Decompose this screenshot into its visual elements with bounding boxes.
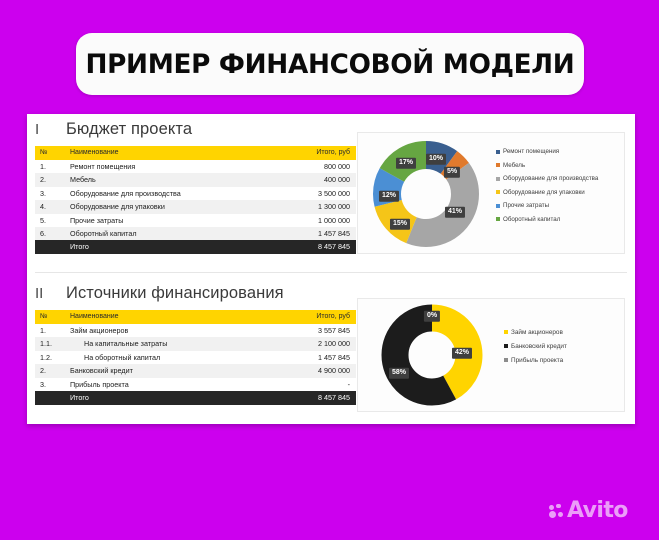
cell-total: 2 100 000 bbox=[275, 337, 356, 350]
table-row: 1. Ремонт помещения 800 000 bbox=[35, 160, 356, 173]
th-name: Наименование bbox=[70, 310, 275, 324]
th-number: № bbox=[35, 310, 70, 324]
th-name: Наименование bbox=[70, 146, 275, 160]
avito-watermark: Avito bbox=[549, 500, 628, 522]
donut-label-oborudovanie-upakovka: 15% bbox=[390, 219, 410, 230]
section-funding: II Источники финансирования № Наименован… bbox=[27, 278, 635, 424]
cell-number: 5. bbox=[35, 214, 70, 227]
funding-donut-chart: 0% 42% 58% bbox=[380, 303, 484, 407]
donut-label-pribyl: 0% bbox=[424, 311, 440, 322]
table-row: 2. Банковский кредит 4 900 000 bbox=[35, 364, 356, 377]
legend-swatch-icon bbox=[496, 163, 500, 167]
donut-label-mebel: 5% bbox=[444, 167, 460, 178]
cell-total: 1 457 845 bbox=[275, 227, 356, 240]
section-title: Источники финансирования bbox=[66, 284, 284, 303]
cell-name: На капитальные затраты bbox=[70, 337, 275, 350]
legend-swatch-icon bbox=[496, 150, 500, 154]
cell-total: 3 500 000 bbox=[275, 187, 356, 200]
table-total-row: Итого 8 457 845 bbox=[35, 240, 356, 254]
legend-label: Ремонт помещения bbox=[503, 148, 559, 155]
legend-swatch-icon bbox=[504, 330, 508, 334]
section-roman-numeral: II bbox=[35, 285, 49, 302]
cell-total: 1 457 845 bbox=[275, 351, 356, 364]
legend-swatch-icon bbox=[496, 204, 500, 208]
cell-number: 6. bbox=[35, 227, 70, 240]
cell-name: Мебель bbox=[70, 173, 275, 186]
legend-item: Прибыль проекта bbox=[504, 353, 630, 367]
cell-number: 2. bbox=[35, 364, 70, 377]
table-row: 3. Прибыль проекта - bbox=[35, 378, 356, 391]
th-number: № bbox=[35, 146, 70, 160]
cell-total: 3 557 845 bbox=[275, 324, 356, 337]
legend-label: Прибыль проекта bbox=[511, 357, 563, 364]
section-budget: I Бюджет проекта № Наименование Итого, р… bbox=[27, 114, 635, 271]
avito-brand-text: Avito bbox=[567, 500, 628, 522]
cell-name: Итого bbox=[70, 391, 275, 405]
cell-total: 8 457 845 bbox=[275, 391, 356, 405]
funding-chart-legend: Займ акционеров Банковский кредит Прибыл… bbox=[504, 325, 630, 367]
cell-total: 8 457 845 bbox=[275, 240, 356, 254]
budget-donut-chart-card: 10% 5% 41% 15% 12% 17% Ремонт помещения … bbox=[357, 132, 625, 254]
table-total-row: Итого 8 457 845 bbox=[35, 391, 356, 405]
cell-total: 800 000 bbox=[275, 160, 356, 173]
legend-label: Оборотный капитал bbox=[503, 216, 560, 223]
legend-label: Мебель bbox=[503, 162, 525, 169]
table-header-row: № Наименование Итого, руб bbox=[35, 310, 356, 324]
donut-label-kredit: 58% bbox=[389, 368, 409, 379]
legend-swatch-icon bbox=[496, 217, 500, 221]
donut-label-zaim: 42% bbox=[452, 348, 472, 359]
th-total: Итого, руб bbox=[275, 146, 356, 160]
section-heading-budget: I Бюджет проекта bbox=[35, 120, 192, 139]
slide-panel: I Бюджет проекта № Наименование Итого, р… bbox=[27, 114, 635, 424]
cell-number: 1. bbox=[35, 324, 70, 337]
legend-label: Займ акционеров bbox=[511, 329, 563, 336]
cell-name: Оборотный капитал bbox=[70, 227, 275, 240]
cell-number bbox=[35, 391, 70, 405]
donut-label-remont: 10% bbox=[426, 154, 446, 165]
table-row: 4. Оборудование для упаковки 1 300 000 bbox=[35, 200, 356, 213]
legend-item: Займ акционеров bbox=[504, 325, 630, 339]
table-row: 1. Займ акционеров 3 557 845 bbox=[35, 324, 356, 337]
cell-total: - bbox=[275, 378, 356, 391]
cell-number: 3. bbox=[35, 378, 70, 391]
table-row: 5. Прочие затраты 1 000 000 bbox=[35, 214, 356, 227]
donut-label-oborotny: 17% bbox=[396, 158, 416, 169]
legend-item: Оборотный капитал bbox=[496, 213, 622, 227]
cell-name: Прибыль проекта bbox=[70, 378, 275, 391]
legend-swatch-icon bbox=[504, 358, 508, 362]
funding-table: № Наименование Итого, руб 1. Займ акцион… bbox=[35, 310, 356, 405]
cell-name: Оборудование для производства bbox=[70, 187, 275, 200]
page-title: ПРИМЕР ФИНАНСОВОЙ МОДЕЛИ bbox=[86, 49, 575, 80]
cell-number: 2. bbox=[35, 173, 70, 186]
legend-item: Прочие затраты bbox=[496, 199, 622, 213]
legend-swatch-icon bbox=[504, 344, 508, 348]
cell-number bbox=[35, 240, 70, 254]
cell-total: 1 000 000 bbox=[275, 214, 356, 227]
table-row: 6. Оборотный капитал 1 457 845 bbox=[35, 227, 356, 240]
cell-name: Прочие затраты bbox=[70, 214, 275, 227]
cell-name: Итого bbox=[70, 240, 275, 254]
donut-label-prochie: 12% bbox=[379, 191, 399, 202]
cell-name: Банковский кредит bbox=[70, 364, 275, 377]
cell-name: Займ акционеров bbox=[70, 324, 275, 337]
cell-total: 400 000 bbox=[275, 173, 356, 186]
budget-chart-legend: Ремонт помещения Мебель Оборудование для… bbox=[496, 145, 622, 226]
budget-table: № Наименование Итого, руб 1. Ремонт поме… bbox=[35, 146, 356, 254]
budget-donut-chart: 10% 5% 41% 15% 12% 17% bbox=[372, 140, 480, 248]
section-divider bbox=[35, 272, 627, 273]
legend-label: Оборудование для упаковки bbox=[503, 189, 585, 196]
cell-number: 1.1. bbox=[35, 337, 70, 350]
cell-number: 1. bbox=[35, 160, 70, 173]
legend-label: Оборудование для производства bbox=[503, 175, 598, 182]
table-row: 2. Мебель 400 000 bbox=[35, 173, 356, 186]
th-total: Итого, руб bbox=[275, 310, 356, 324]
cell-number: 3. bbox=[35, 187, 70, 200]
table-row: 1.1. На капитальные затраты 2 100 000 bbox=[35, 337, 356, 350]
donut-label-oborudovanie-proizvodstvo: 41% bbox=[445, 207, 465, 218]
cell-name: На оборотный капитал bbox=[70, 351, 275, 364]
legend-item: Ремонт помещения bbox=[496, 145, 622, 159]
legend-item: Оборудование для производства bbox=[496, 172, 622, 186]
legend-swatch-icon bbox=[496, 177, 500, 181]
legend-item: Оборудование для упаковки bbox=[496, 186, 622, 200]
funding-donut-chart-card: 0% 42% 58% Займ акционеров Банковский кр… bbox=[357, 298, 625, 412]
avito-dots-icon bbox=[549, 504, 564, 519]
cell-name: Ремонт помещения bbox=[70, 160, 275, 173]
cell-total: 1 300 000 bbox=[275, 200, 356, 213]
section-heading-funding: II Источники финансирования bbox=[35, 284, 284, 303]
legend-swatch-icon bbox=[496, 190, 500, 194]
title-banner: ПРИМЕР ФИНАНСОВОЙ МОДЕЛИ bbox=[76, 33, 584, 95]
legend-item: Мебель bbox=[496, 159, 622, 173]
cell-total: 4 900 000 bbox=[275, 364, 356, 377]
cell-name: Оборудование для упаковки bbox=[70, 200, 275, 213]
table-header-row: № Наименование Итого, руб bbox=[35, 146, 356, 160]
legend-label: Банковский кредит bbox=[511, 343, 567, 350]
section-roman-numeral: I bbox=[35, 121, 49, 138]
cell-number: 1.2. bbox=[35, 351, 70, 364]
table-row: 3. Оборудование для производства 3 500 0… bbox=[35, 187, 356, 200]
section-title: Бюджет проекта bbox=[66, 120, 192, 139]
cell-number: 4. bbox=[35, 200, 70, 213]
legend-label: Прочие затраты bbox=[503, 202, 549, 209]
legend-item: Банковский кредит bbox=[504, 339, 630, 353]
table-row: 1.2. На оборотный капитал 1 457 845 bbox=[35, 351, 356, 364]
